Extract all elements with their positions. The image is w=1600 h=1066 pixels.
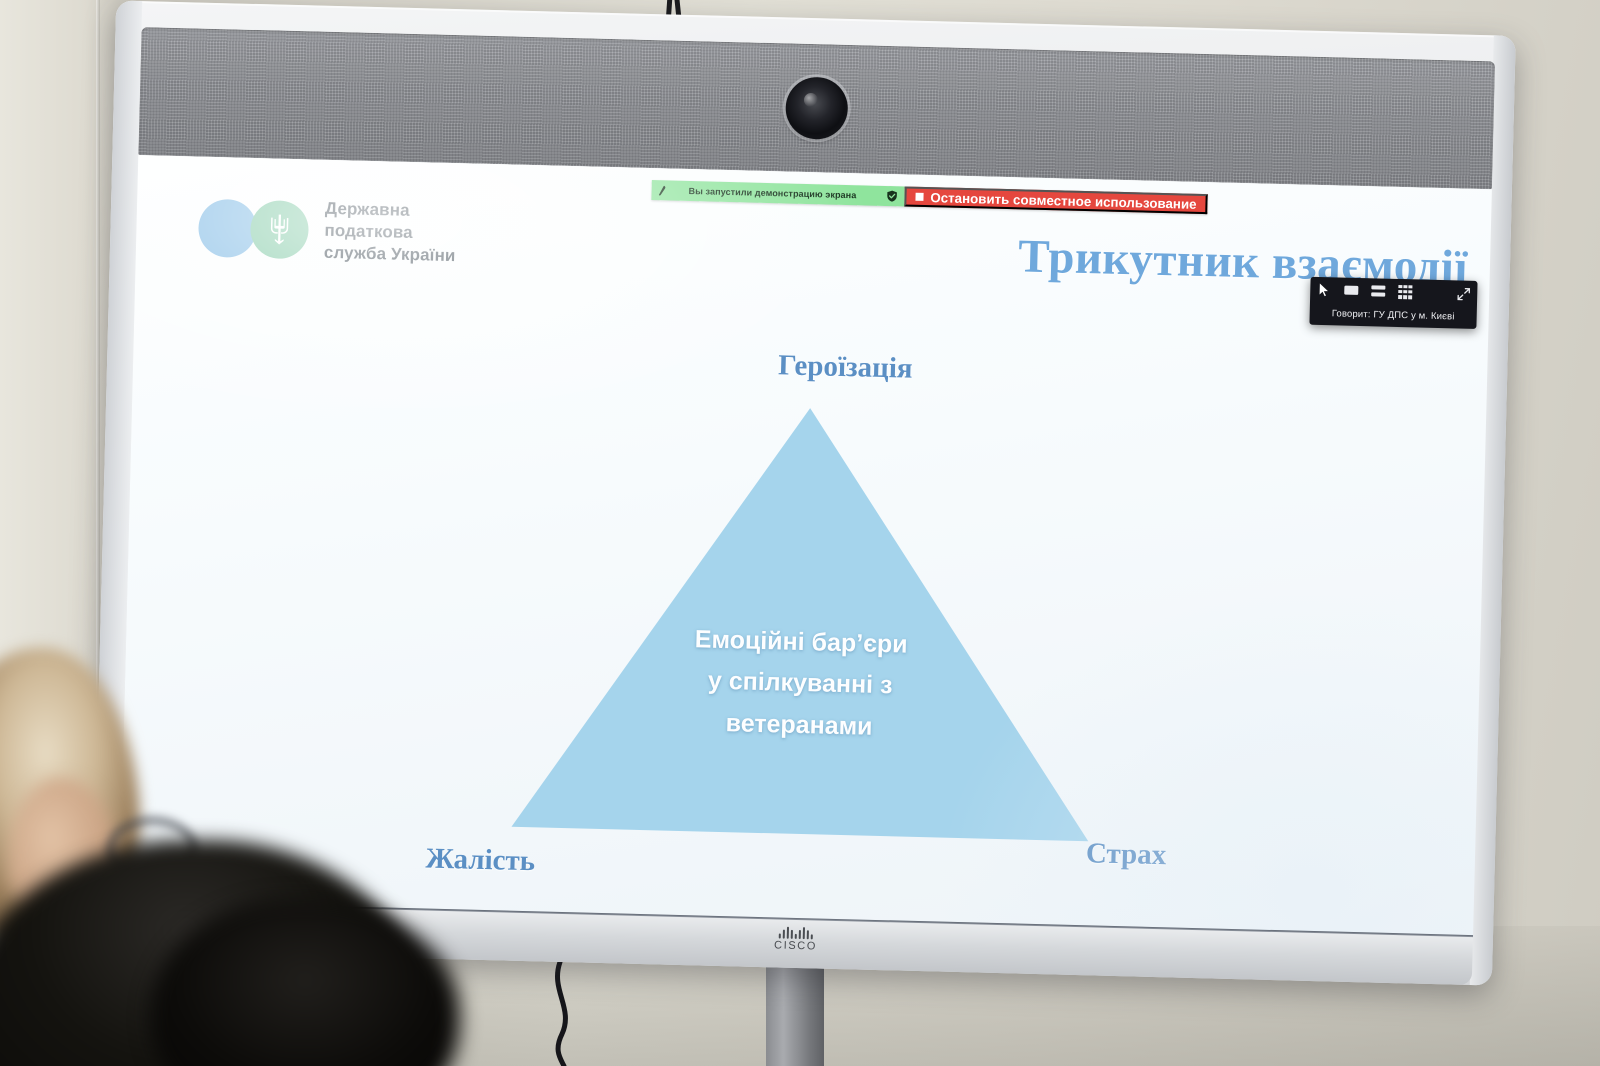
cisco-wordmark: CISCO [761, 939, 829, 953]
triangle-label-bottom-right: Страх [1086, 837, 1167, 872]
room-control-overlay[interactable]: Говорит: ГУ ДПС у м. Києві [1309, 277, 1477, 329]
single-view-icon[interactable] [1344, 286, 1358, 295]
triangle-shape [511, 401, 1099, 841]
triangle-label-apex: Героїзація [778, 349, 913, 385]
cisco-bridge-icon [762, 926, 830, 940]
display-stand-column [766, 960, 824, 1066]
triangle-center-text: Емоційні бар’єри у спілкуванні з ветеран… [654, 618, 947, 749]
display-power-cable [540, 962, 584, 1066]
overlay-icon-row [1318, 282, 1412, 299]
grid-view-icon[interactable] [1398, 284, 1412, 298]
cursor-icon[interactable] [1318, 282, 1331, 297]
cisco-display: Вы запустили демонстрацию экрана Останов… [92, 0, 1516, 985]
triangle-label-bottom-left: Жалість [425, 843, 535, 879]
display-screen: Вы запустили демонстрацию экрана Останов… [119, 155, 1491, 937]
active-speaker-caption: Говорит: ГУ ДПС у м. Києві [1310, 308, 1477, 323]
camera-lens [785, 76, 849, 140]
screenshot-stage: Вы запустили демонстрацию экрана Останов… [0, 0, 1600, 1066]
split-view-icon[interactable] [1371, 285, 1385, 296]
cisco-logo: CISCO [761, 926, 830, 953]
expand-icon[interactable] [1457, 287, 1470, 300]
presentation-slide: Вы запустили демонстрацию экрана Останов… [119, 155, 1491, 937]
interaction-triangle-diagram: Героїзація Жалість Страх Емоційні бар’єр… [119, 155, 1491, 937]
